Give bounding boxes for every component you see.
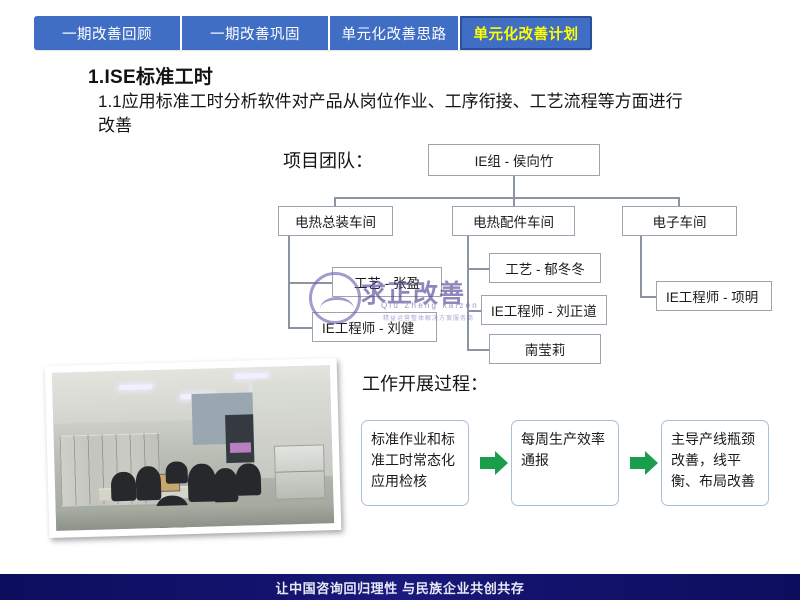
- org-node-branch-3[interactable]: 电子车间: [622, 206, 737, 236]
- org-connector-branch1-elbow-a: [288, 282, 332, 284]
- org-connector-branch2-elbow-a: [467, 268, 489, 270]
- tab-cellular-improvement-approach[interactable]: 单元化改善思路: [330, 16, 460, 50]
- flow-step-2[interactable]: 每周生产效率通报: [511, 420, 619, 506]
- org-connector-branch2-elbow-c: [467, 349, 489, 351]
- flow-step-3[interactable]: 主导产线瓶颈改善，线平衡、布局改善: [661, 420, 769, 506]
- meeting-room-photo: [45, 358, 342, 538]
- org-connector-branch1-elbow-b: [288, 327, 332, 329]
- flow-arrow-1: [480, 450, 508, 476]
- watermark-tagline: 精益运营整体解决方案服务商: [383, 313, 474, 322]
- page-subtitle: 1.1应用标准工时分析软件对产品从岗位作业、工序衔接、工艺流程等方面进行改善: [98, 90, 698, 138]
- org-connector-branch1-top: [288, 236, 290, 242]
- flow-step-1[interactable]: 标准作业和标准工时常态化应用检核: [361, 420, 469, 506]
- watermark-title: 求正改善: [361, 274, 465, 310]
- photo-image: [52, 365, 334, 531]
- photo-person-2: [135, 466, 161, 500]
- watermark-logo-icon: [309, 272, 361, 324]
- flow-arrow-2: [630, 450, 658, 476]
- footer-slogan: 让中国咨询回归理性 与民族企业共创共存: [275, 578, 524, 597]
- org-node-member-1-2[interactable]: IE工程师 - 刘健: [312, 312, 437, 342]
- org-node-member-2-2[interactable]: IE工程师 - 刘正道: [481, 295, 607, 325]
- photo-cabinet: [274, 444, 326, 499]
- photo-person-1: [110, 472, 136, 501]
- tab-phase1-review[interactable]: 一期改善回顾: [34, 16, 182, 50]
- tab-phase1-consolidation[interactable]: 一期改善巩固: [182, 16, 330, 50]
- org-connector-branch3-spine: [640, 236, 642, 298]
- photo-floor: [56, 501, 335, 531]
- org-connector-drop-2: [513, 197, 515, 207]
- org-connector-branch3-elbow: [640, 296, 656, 298]
- tab-cellular-improvement-plan[interactable]: 单元化改善计划: [460, 16, 592, 50]
- arrow-right-icon: [630, 450, 658, 476]
- org-node-member-3-1[interactable]: IE工程师 - 项明: [656, 281, 772, 311]
- org-connector-root-stem: [513, 176, 515, 198]
- org-connector-drop-3: [678, 197, 680, 207]
- work-process-label: 工作开展过程：: [362, 370, 488, 396]
- watermark-pinyin: Qiu Zheng kaizen: [381, 301, 479, 310]
- org-node-member-1-1[interactable]: 工艺 - 张盈: [332, 267, 442, 297]
- photo-person-4: [188, 463, 217, 502]
- photo-person-6: [235, 464, 261, 496]
- photo-person-3: [166, 461, 189, 484]
- org-node-member-2-1[interactable]: 工艺 - 郁冬冬: [489, 253, 601, 283]
- org-connector-drop-1: [334, 197, 336, 207]
- org-connector-branch2-elbow-b: [467, 310, 489, 312]
- project-team-label: 项目团队：: [283, 147, 373, 173]
- watermark: 求正改善 Qiu Zheng kaizen 精益运营整体解决方案服务商: [305, 268, 515, 330]
- org-node-member-2-3[interactable]: 南莹莉: [489, 334, 601, 364]
- org-connector-bus: [334, 197, 679, 199]
- org-connector-branch1-spine: [288, 236, 290, 328]
- org-node-branch-2[interactable]: 电热配件车间: [452, 206, 575, 236]
- org-node-root[interactable]: IE组 - 侯向竹: [428, 144, 600, 176]
- org-node-branch-1[interactable]: 电热总装车间: [278, 206, 393, 236]
- tab-bar: 一期改善回顾 一期改善巩固 单元化改善思路 单元化改善计划: [34, 16, 592, 50]
- arrow-right-icon: [480, 450, 508, 476]
- footer-bar: 让中国咨询回归理性 与民族企业共创共存: [0, 574, 800, 600]
- org-connector-branch2-spine: [467, 236, 469, 350]
- page-title: 1.ISE标准工时: [88, 62, 213, 89]
- photo-machine: [225, 415, 254, 463]
